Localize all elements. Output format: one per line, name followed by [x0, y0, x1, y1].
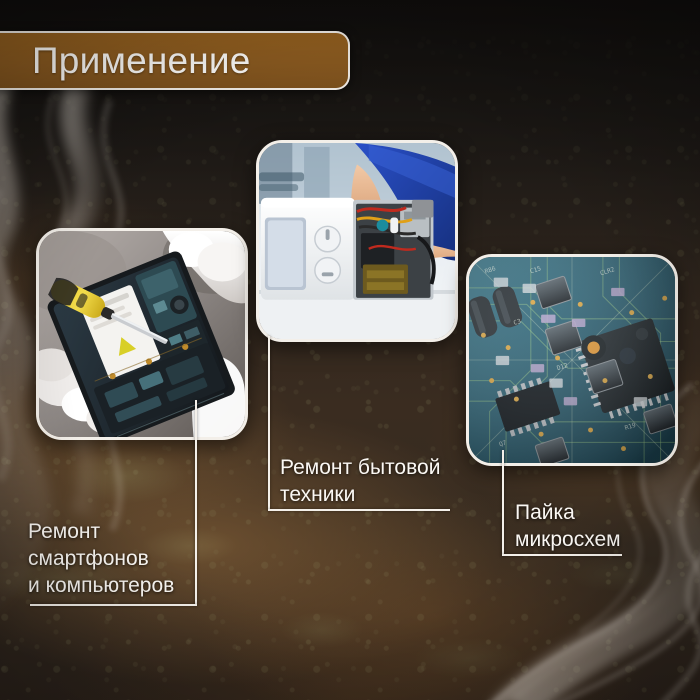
vignette-overlay	[0, 0, 700, 700]
poster-canvas: Применение	[0, 0, 700, 700]
